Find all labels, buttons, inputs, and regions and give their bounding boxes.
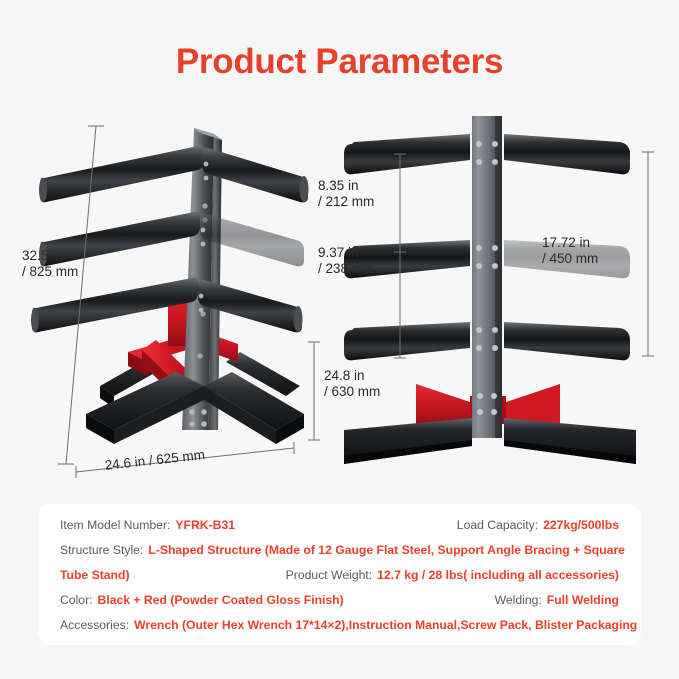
spec-item-model-number: Item Model Number: YFRK-B31: [60, 518, 235, 532]
peg-level-3: [31, 278, 303, 333]
spec-label: Color:: [60, 593, 93, 607]
spec-row: Accessories: Wrench (Outer Hex Wrench 17…: [60, 618, 619, 643]
spec-item-load-capacity: Load Capacity: 227kg/500lbs: [457, 518, 619, 532]
spec-label: Accessories:: [60, 618, 129, 632]
spec-item-product-weight: Product Weight: 12.7 kg / 28 lbs( includ…: [286, 568, 619, 582]
dim-overall-height: 32.5 in / 825 mm: [22, 248, 108, 280]
specifications-card: Item Model Number: YFRK-B31 Load Capacit…: [38, 504, 641, 645]
dim-peg-width: 17.72 in / 450 mm: [542, 235, 642, 267]
spec-label: Structure Style:: [60, 543, 143, 557]
spec-value: Full Welding: [547, 593, 619, 607]
spec-item-structure-style: Structure Style: L-Shaped Structure (Mad…: [60, 543, 625, 557]
spec-value: Wrench (Outer Hex Wrench 17*14×2),Instru…: [134, 618, 637, 632]
diagram-perspective-view: 32.5 in / 825 mm 24.6 in / 625 mm 24.8 i…: [8, 100, 338, 500]
spec-item-color: Color: Black + Red (Powder Coated Gloss …: [60, 593, 344, 607]
spec-value: YFRK-B31: [175, 518, 235, 532]
spec-row: Structure Style: L-Shaped Structure (Mad…: [60, 543, 619, 568]
rack-front-illustration: [330, 100, 679, 500]
spec-label: Product Weight:: [286, 568, 373, 582]
peg-level-1: [39, 146, 309, 203]
spec-item-accessories: Accessories: Wrench (Outer Hex Wrench 17…: [60, 618, 637, 632]
spec-item-structure-style-continued: Tube Stand): [60, 568, 130, 582]
spec-row: Color: Black + Red (Powder Coated Gloss …: [60, 593, 619, 618]
spec-label: Welding:: [495, 593, 542, 607]
diagram-front-view: 8.35 in / 212 mm 9.37 in / 238 mm 17.72 …: [330, 100, 679, 500]
spec-value: Black + Red (Powder Coated Gloss Finish): [98, 593, 344, 607]
spec-value: Tube Stand): [60, 568, 130, 582]
spec-value: 227kg/500lbs: [543, 518, 619, 532]
spec-value: 12.7 kg / 28 lbs( including all accessor…: [377, 568, 619, 582]
dim-top-peg-spacing: 8.35 in / 212 mm: [318, 178, 410, 210]
page-title: Product Parameters: [0, 42, 679, 82]
product-diagrams: 32.5 in / 825 mm 24.6 in / 625 mm 24.8 i…: [0, 100, 679, 500]
spec-value: L-Shaped Structure (Made of 12 Gauge Fla…: [148, 543, 625, 557]
spec-item-welding: Welding: Full Welding: [495, 593, 619, 607]
front-vertical-post: [472, 116, 502, 438]
spec-row: Tube Stand) Product Weight: 12.7 kg / 28…: [60, 568, 619, 593]
spec-label: Load Capacity:: [457, 518, 538, 532]
spec-row: Item Model Number: YFRK-B31 Load Capacit…: [60, 518, 619, 543]
dim-lower-peg-spacing: 9.37 in / 238 mm: [318, 245, 410, 277]
spec-label: Item Model Number:: [60, 518, 170, 532]
